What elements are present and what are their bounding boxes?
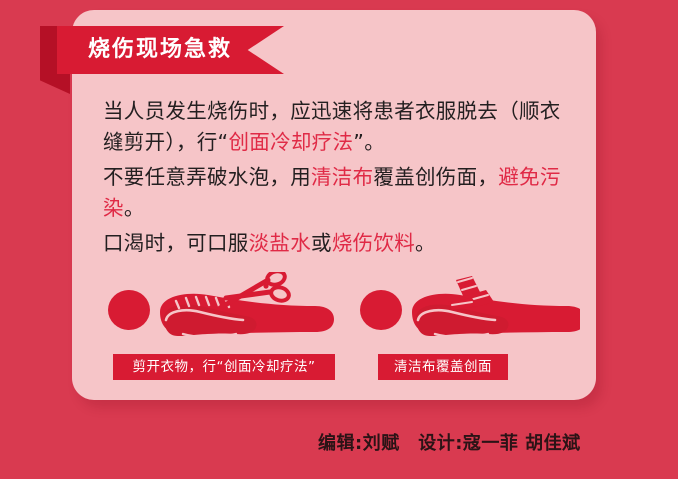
highlighted-term: 创面冷却疗法 xyxy=(228,130,353,154)
paragraph-3: 口渴时，可口服淡盐水或烧伤饮料。 xyxy=(103,228,573,259)
paragraph-2: 不要任意弄破水泡，用清洁布覆盖创伤面，避免污染。 xyxy=(103,162,573,224)
title-ribbon: 烧伤现场急救 xyxy=(40,26,280,94)
caption-right: 清洁布覆盖创面 xyxy=(378,354,508,380)
person-lying-scissors-cut-clothing-icon xyxy=(108,272,334,337)
ribbon-body-shape: 烧伤现场急救 xyxy=(57,26,284,74)
body-text: 。 xyxy=(124,196,145,220)
paragraph-1: 当人员发生烧伤时，应迅速将患者衣服脱去（顺衣缝剪开），行“创面冷却疗法”。 xyxy=(103,96,573,158)
body-text: 覆盖创伤面， xyxy=(373,165,498,189)
poster-root: 烧伤现场急救 当人员发生烧伤时，应迅速将患者衣服脱去（顺衣缝剪开），行“创面冷却… xyxy=(0,0,678,479)
body-text: 或 xyxy=(311,231,332,255)
body-text: 。 xyxy=(415,231,436,255)
highlighted-term: 淡盐水 xyxy=(249,231,311,255)
body-text: 不要任意弄破水泡，用 xyxy=(103,165,311,189)
highlighted-term: 烧伤饮料 xyxy=(332,231,415,255)
body-text: 口渴时，可口服 xyxy=(103,231,249,255)
illustration-group xyxy=(100,272,580,344)
highlighted-term: 清洁布 xyxy=(311,165,373,189)
person-lying-clean-cloth-cover-icon xyxy=(360,276,580,337)
page-title: 烧伤现场急救 xyxy=(88,26,232,74)
credits-line: 编辑:刘赋 设计:寇一菲 胡佳斌 xyxy=(318,432,638,456)
caption-left: 剪开衣物，行“创面冷却疗法” xyxy=(113,354,335,380)
body-text: ”。 xyxy=(353,130,385,154)
